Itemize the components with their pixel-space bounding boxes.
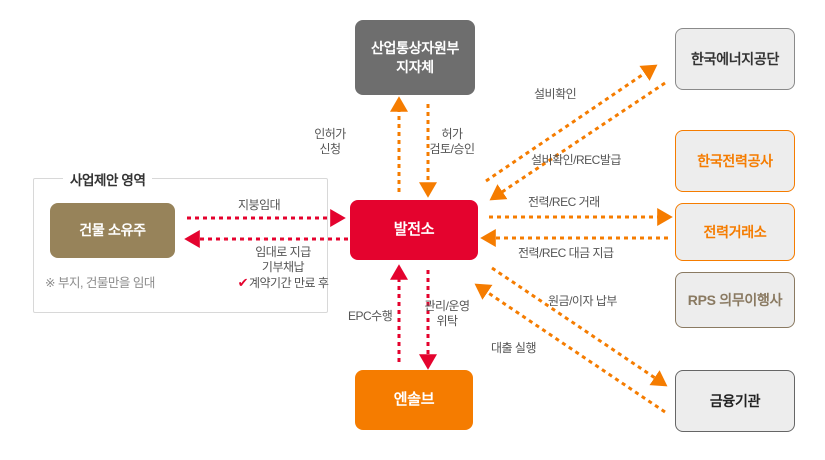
proposal-scope-note: ※ 부지, 건물만을 임대: [45, 272, 155, 291]
node-korea-energy-agency[interactable]: 한국에너지공단: [675, 28, 795, 90]
label-permit-review: 허가 검토/승인: [412, 127, 492, 157]
label-rent-payment-line1: 임대로 지급: [228, 245, 338, 260]
label-permit-review-line1: 허가: [412, 127, 492, 142]
label-permit-apply-line1: 인허가: [295, 127, 365, 142]
node-building-owner-label: 건물 소유주: [79, 221, 146, 240]
node-ministry-line1: 산업통상자원부: [371, 39, 459, 58]
label-roof-lease: 지붕임대: [238, 198, 280, 213]
node-power-plant-label: 발전소: [394, 220, 435, 240]
node-power-exchange[interactable]: 전력거래소: [675, 203, 795, 261]
label-rent-payment-line2: 기부채납: [228, 260, 338, 275]
label-rec-trade: 전력/REC 거래: [528, 195, 600, 210]
label-loan-execution: 대출 실행: [491, 341, 536, 356]
node-financial-institution[interactable]: 금융기관: [675, 370, 795, 432]
label-permit-apply: 인허가 신청: [295, 127, 365, 157]
node-rps-obligor[interactable]: RPS 의무이행사: [675, 272, 795, 328]
node-financial-institution-label: 금융기관: [710, 392, 760, 411]
label-om-delegation-line1: 관리/운영: [417, 299, 477, 314]
node-ensolve-label: 엔솔브: [394, 390, 435, 410]
label-epc: EPC수행: [348, 309, 392, 324]
label-rent-payment: 임대로 지급 기부채납 ✔계약기간 만료 후: [228, 245, 338, 291]
label-facility-rec-issue: 설비확인/REC발급: [531, 153, 621, 168]
label-rent-payment-line3: 계약기간 만료 후: [249, 276, 328, 290]
node-power-exchange-label: 전력거래소: [704, 223, 767, 242]
edge-facility-rec-issue: [496, 83, 665, 196]
label-rent-payment-line3-wrap: ✔계약기간 만료 후: [228, 275, 338, 291]
node-kepco-label: 한국전력공사: [697, 152, 772, 171]
edge-interest-payment: [492, 268, 661, 382]
proposal-scope-title: 사업제안 영역: [63, 169, 152, 189]
node-korea-energy-agency-label: 한국에너지공단: [691, 50, 779, 69]
node-kepco[interactable]: 한국전력공사: [675, 130, 795, 192]
business-structure-diagram: 사업제안 영역 ※ 부지, 건물만을 임대 산업통상자원부 지자체 발전소 엔솔…: [0, 0, 825, 460]
node-ensolve[interactable]: 엔솔브: [355, 370, 473, 430]
node-building-owner[interactable]: 건물 소유주: [50, 203, 175, 258]
label-om-delegation: 관리/운영 위탁: [417, 299, 477, 329]
node-power-plant[interactable]: 발전소: [350, 200, 478, 260]
label-permit-review-line2: 검토/승인: [412, 142, 492, 157]
check-icon: ✔: [238, 275, 249, 290]
node-ministry[interactable]: 산업통상자원부 지자체: [355, 20, 475, 95]
label-permit-apply-line2: 신청: [295, 142, 365, 157]
label-interest-payment: 원금/이자 납부: [548, 294, 617, 309]
label-facility-check: 설비확인: [534, 87, 576, 102]
label-rec-payment: 전력/REC 대금 지급: [518, 246, 614, 261]
node-ministry-line2: 지자체: [396, 58, 434, 77]
node-rps-obligor-label: RPS 의무이행사: [688, 291, 782, 310]
label-om-delegation-line2: 위탁: [417, 314, 477, 329]
